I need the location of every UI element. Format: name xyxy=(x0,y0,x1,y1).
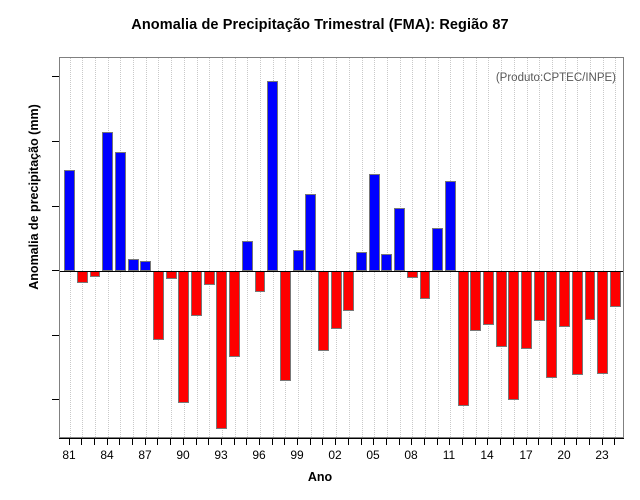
x-tick-label: 84 xyxy=(100,448,113,462)
x-tick-mark xyxy=(69,438,70,445)
bar xyxy=(115,152,126,271)
x-tick-mark xyxy=(513,438,514,445)
bar xyxy=(496,271,507,347)
x-tick-mark xyxy=(119,438,120,445)
x-tick-mark xyxy=(538,438,539,445)
bar xyxy=(343,271,354,311)
x-tick-label: 99 xyxy=(290,448,303,462)
x-tick-label: 93 xyxy=(214,448,227,462)
bar xyxy=(572,271,583,375)
bar xyxy=(483,271,494,325)
x-tick-label: 23 xyxy=(595,448,608,462)
x-tick-mark xyxy=(361,438,362,445)
x-tick-mark xyxy=(449,438,450,445)
x-tick-label: 02 xyxy=(328,448,341,462)
x-tick-mark xyxy=(462,438,463,445)
bar xyxy=(394,208,405,271)
chart-title: Anomalia de Precipitação Trimestral (FMA… xyxy=(0,17,640,33)
x-tick-mark xyxy=(272,438,273,445)
y-tick-mark xyxy=(52,270,59,271)
x-tick-mark xyxy=(284,438,285,445)
x-tick-label: 05 xyxy=(366,448,379,462)
x-tick-mark xyxy=(297,438,298,445)
x-tick-mark xyxy=(335,438,336,445)
x-tick-label: 08 xyxy=(404,448,417,462)
x-tick-label: 87 xyxy=(138,448,151,462)
x-tick-label: 20 xyxy=(557,448,570,462)
bar xyxy=(242,241,253,271)
x-tick-label: 17 xyxy=(519,448,532,462)
bar xyxy=(445,181,456,271)
x-tick-label: 81 xyxy=(62,448,75,462)
bar xyxy=(102,132,113,271)
bar xyxy=(178,271,189,403)
x-tick-mark xyxy=(107,438,108,445)
bar xyxy=(546,271,557,378)
bar xyxy=(229,271,240,357)
bar xyxy=(305,194,316,271)
x-tick-mark xyxy=(259,438,260,445)
bar xyxy=(140,261,151,271)
x-tick-mark xyxy=(310,438,311,445)
x-tick-mark xyxy=(81,438,82,445)
x-tick-mark xyxy=(373,438,374,445)
x-tick-mark xyxy=(386,438,387,445)
x-tick-label: 11 xyxy=(443,448,455,462)
x-tick-mark xyxy=(348,438,349,445)
x-tick-mark xyxy=(614,438,615,445)
bar xyxy=(521,271,532,348)
bar xyxy=(331,271,342,328)
x-tick-mark xyxy=(322,438,323,445)
bar xyxy=(610,271,621,307)
bar xyxy=(267,81,278,272)
bar xyxy=(559,271,570,327)
x-tick-mark xyxy=(487,438,488,445)
x-tick-mark xyxy=(589,438,590,445)
x-tick-mark xyxy=(196,438,197,445)
x-tick-mark xyxy=(500,438,501,445)
x-tick-mark xyxy=(551,438,552,445)
bar xyxy=(585,271,596,320)
bar xyxy=(356,252,367,271)
bar xyxy=(255,271,266,292)
x-tick-mark xyxy=(246,438,247,445)
x-axis-title: Ano xyxy=(0,470,640,484)
bar xyxy=(508,271,519,400)
source-annotation: (Produto:CPTEC/INPE) xyxy=(496,72,616,84)
bar xyxy=(280,271,291,381)
x-tick-mark xyxy=(145,438,146,445)
bar xyxy=(204,271,215,285)
y-tick-mark xyxy=(52,76,59,77)
bar xyxy=(64,170,75,271)
y-tick-mark xyxy=(52,335,59,336)
x-tick-mark xyxy=(399,438,400,445)
bar xyxy=(458,271,469,406)
x-tick-mark xyxy=(564,438,565,445)
x-tick-mark xyxy=(475,438,476,445)
bar xyxy=(432,228,443,271)
bar xyxy=(369,174,380,271)
bar xyxy=(128,259,139,271)
bar xyxy=(470,271,481,331)
x-tick-mark xyxy=(576,438,577,445)
x-tick-mark xyxy=(424,438,425,445)
bar xyxy=(381,254,392,271)
x-tick-mark xyxy=(132,438,133,445)
bar xyxy=(420,271,431,299)
x-tick-mark xyxy=(170,438,171,445)
y-tick-mark xyxy=(52,399,59,400)
bar xyxy=(293,250,304,271)
bars-layer xyxy=(60,58,623,437)
x-tick-mark xyxy=(526,438,527,445)
bar xyxy=(597,271,608,374)
y-tick-mark xyxy=(52,141,59,142)
bar xyxy=(153,271,164,340)
x-tick-label: 14 xyxy=(480,448,493,462)
x-tick-mark xyxy=(411,438,412,445)
zero-baseline xyxy=(60,271,623,272)
precipitation-anomaly-chart: Anomalia de Precipitação Trimestral (FMA… xyxy=(0,0,640,500)
bar xyxy=(191,271,202,316)
x-tick-mark xyxy=(94,438,95,445)
bar xyxy=(216,271,227,429)
bar xyxy=(166,271,177,279)
x-tick-mark xyxy=(437,438,438,445)
bar xyxy=(77,271,88,283)
x-tick-label: 96 xyxy=(252,448,265,462)
x-tick-mark xyxy=(208,438,209,445)
bar xyxy=(318,271,329,351)
x-tick-mark xyxy=(157,438,158,445)
bar xyxy=(534,271,545,321)
x-tick-mark xyxy=(183,438,184,445)
x-tick-label: 90 xyxy=(176,448,189,462)
x-tick-mark xyxy=(234,438,235,445)
plot-area: (Produto:CPTEC/INPE) xyxy=(59,57,624,438)
x-axis-line xyxy=(59,438,624,439)
x-tick-mark xyxy=(602,438,603,445)
y-axis-title: Anomalia de precipitação (mm) xyxy=(27,67,41,327)
y-tick-mark xyxy=(52,206,59,207)
x-tick-mark xyxy=(221,438,222,445)
